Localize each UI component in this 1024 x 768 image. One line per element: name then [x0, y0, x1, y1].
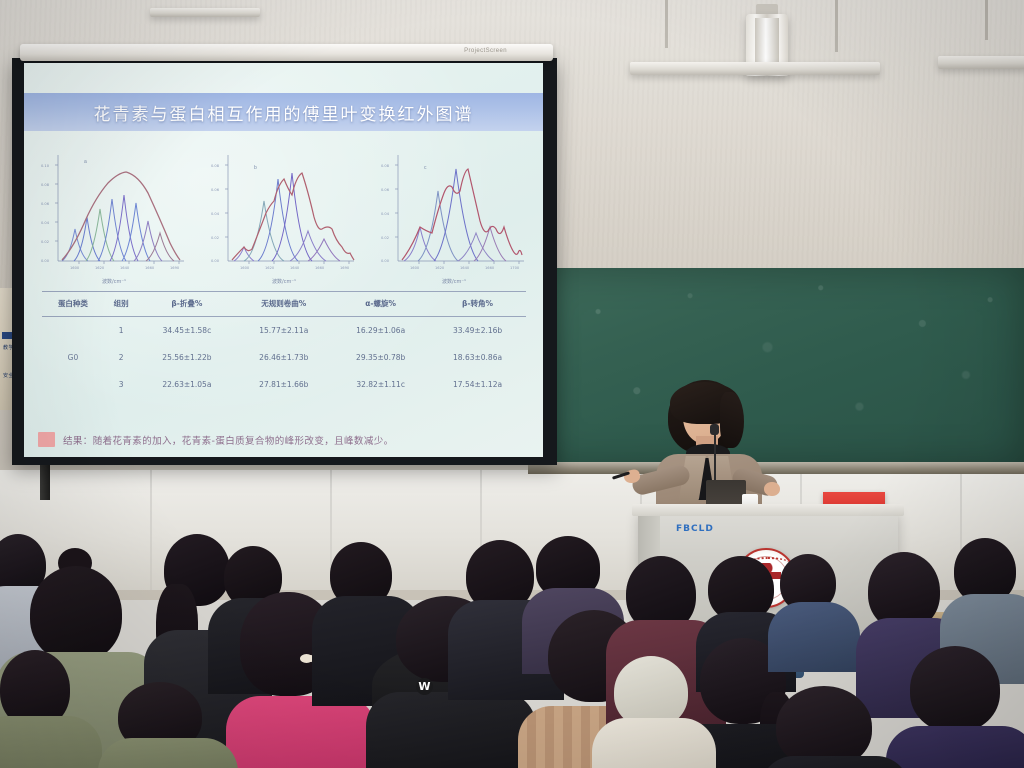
svg-text:1640: 1640 [290, 266, 300, 270]
table-row: 3 22.63±1.05a 27.81±1.66b 32.82±1.11c 17… [42, 371, 526, 398]
screen-roller-housing[interactable]: ProjectScreen [20, 44, 553, 61]
cell-group: 2 [104, 344, 139, 371]
cell-group: 1 [104, 317, 139, 345]
lecture-hall-scene: 教学楼 安全须知 ProjectScreen 花青素与蛋白相互作用的傅里叶变换红… [0, 0, 1024, 768]
audience-body [886, 726, 1024, 768]
slide-conclusion: 结果：随着花青素的加入，花青素-蛋白质复合物的峰形改变，且峰数减少。 [38, 432, 533, 447]
svg-text:1600: 1600 [240, 266, 250, 270]
svg-text:0.00: 0.00 [211, 259, 220, 263]
chart-c-xlabel: 波数/cm⁻¹ [374, 278, 534, 285]
svg-text:0.00: 0.00 [41, 259, 50, 263]
hoodie-w-logo: W [416, 678, 433, 695]
podium-top-surface [632, 504, 904, 516]
light-rod [665, 0, 668, 48]
cell-random-coil: 27.81±1.66b [235, 371, 332, 398]
col-group: 组别 [104, 292, 139, 317]
audience-body [592, 718, 716, 768]
col-protein-type: 蛋白种类 [42, 292, 104, 317]
svg-text:0.02: 0.02 [211, 236, 219, 240]
chart-b-tag: b [254, 165, 257, 171]
cell-beta-turn: 33.49±2.16b [429, 317, 526, 345]
col-beta-turn: β-转角% [429, 292, 526, 317]
conclusion-text: 结果：随着花青素的加入，花青素-蛋白质复合物的峰形改变，且峰数减少。 [63, 433, 394, 447]
ftir-chart-b: 0.080.060.04 0.020.00 160016201640 16601… [204, 143, 364, 283]
ftir-chart-c: 0.080.060.04 0.020.00 160016201640 16601… [374, 143, 534, 283]
chart-c-svg: 0.080.060.04 0.020.00 160016201640 16601… [374, 143, 534, 283]
table-row: G0 2 25.56±1.22b 26.46±1.73b 29.35±0.78b… [42, 344, 526, 371]
svg-text:0.02: 0.02 [41, 240, 49, 244]
svg-text:0.04: 0.04 [381, 212, 390, 216]
bullet-swatch [38, 432, 55, 447]
light-rod [985, 0, 988, 40]
svg-text:1640: 1640 [120, 266, 130, 270]
audience-body [768, 602, 860, 672]
ceiling-light-bar [150, 8, 260, 17]
audience-body [98, 738, 238, 768]
svg-text:1620: 1620 [435, 266, 445, 270]
svg-text:0.04: 0.04 [211, 212, 220, 216]
svg-text:0.10: 0.10 [41, 164, 50, 168]
protein-structure-table: 蛋白种类 组别 β-折叠% 无规则卷曲% α-螺旋% β-转角% 1 34.45… [42, 291, 526, 398]
cell-beta-sheet: 34.45±1.58c [138, 317, 235, 345]
col-alpha-helix: α-螺旋% [332, 292, 429, 317]
svg-text:1620: 1620 [265, 266, 275, 270]
chart-a-tag: a [84, 159, 87, 165]
table-row: 1 34.45±1.58c 15.77±2.11a 16.29±1.06a 33… [42, 317, 526, 345]
chart-a-xlabel: 波数/cm⁻¹ [34, 278, 194, 285]
svg-text:1690: 1690 [340, 266, 350, 270]
svg-text:1620: 1620 [95, 266, 105, 270]
slide-title: 花青素与蛋白相互作用的傅里叶变换红外图谱 [94, 100, 474, 125]
ftir-chart-a: 0.100.080.06 0.040.020.00 160016201640 1… [34, 143, 194, 283]
svg-text:1660: 1660 [315, 266, 325, 270]
audience-body [760, 756, 910, 768]
svg-text:1700: 1700 [510, 266, 520, 270]
cell-random-coil: 26.46±1.73b [235, 344, 332, 371]
svg-text:1660: 1660 [145, 266, 155, 270]
audience-body [226, 696, 376, 768]
svg-text:1690: 1690 [170, 266, 180, 270]
svg-text:0.02: 0.02 [381, 236, 389, 240]
cell-beta-sheet: 22.63±1.05a [138, 371, 235, 398]
svg-text:1600: 1600 [70, 266, 80, 270]
audience-body [0, 716, 102, 768]
audience-head [30, 566, 122, 662]
svg-text:0.00: 0.00 [381, 259, 390, 263]
screen-brand-label: ProjectScreen [464, 48, 507, 54]
presenter-hair-side [720, 392, 744, 448]
ceiling-light-bar [630, 62, 880, 75]
charts-row: 0.100.080.06 0.040.020.00 160016201640 1… [34, 143, 534, 283]
protein-label: G0 [42, 344, 104, 371]
cell-beta-sheet: 25.56±1.22b [138, 344, 235, 371]
slide-title-bar: 花青素与蛋白相互作用的傅里叶变换红外图谱 [24, 93, 543, 131]
col-beta-sheet: β-折叠% [138, 292, 235, 317]
cell-alpha-helix: 32.82±1.11c [332, 371, 429, 398]
cell-group: 3 [104, 371, 139, 398]
audience-body [366, 692, 536, 768]
col-random-coil: 无规则卷曲% [235, 292, 332, 317]
svg-text:1660: 1660 [485, 266, 495, 270]
chart-b-xlabel: 波数/cm⁻¹ [204, 278, 364, 285]
protein-label [42, 371, 104, 398]
cell-beta-turn: 17.54±1.12a [429, 371, 526, 398]
svg-text:0.08: 0.08 [41, 183, 50, 187]
svg-text:0.06: 0.06 [381, 188, 390, 192]
cell-alpha-helix: 29.35±0.78b [332, 344, 429, 371]
svg-text:0.06: 0.06 [211, 188, 220, 192]
svg-text:1600: 1600 [410, 266, 420, 270]
light-rod [835, 0, 838, 52]
chart-c-tag: c [424, 165, 427, 171]
audience-head [910, 646, 1000, 732]
svg-text:0.06: 0.06 [41, 202, 50, 206]
svg-text:0.08: 0.08 [211, 164, 220, 168]
cell-beta-turn: 18.63±0.86a [429, 344, 526, 371]
podium-brand-label: FBCLD [676, 524, 714, 534]
cell-alpha-helix: 16.29±1.06a [332, 317, 429, 345]
protein-label [42, 317, 104, 345]
chart-a-svg: 0.100.080.06 0.040.020.00 160016201640 1… [34, 143, 194, 283]
svg-text:0.08: 0.08 [381, 164, 390, 168]
chart-b-svg: 0.080.060.04 0.020.00 160016201640 16601… [204, 143, 364, 283]
svg-text:1640: 1640 [460, 266, 470, 270]
projection-screen: 花青素与蛋白相互作用的傅里叶变换红外图谱 [24, 63, 543, 457]
presenter-hand-right [764, 482, 780, 496]
table-header-row: 蛋白种类 组别 β-折叠% 无规则卷曲% α-螺旋% β-转角% [42, 292, 526, 317]
cell-random-coil: 15.77±2.11a [235, 317, 332, 345]
ceiling-light-bar [938, 56, 1024, 69]
svg-text:0.04: 0.04 [41, 221, 50, 225]
